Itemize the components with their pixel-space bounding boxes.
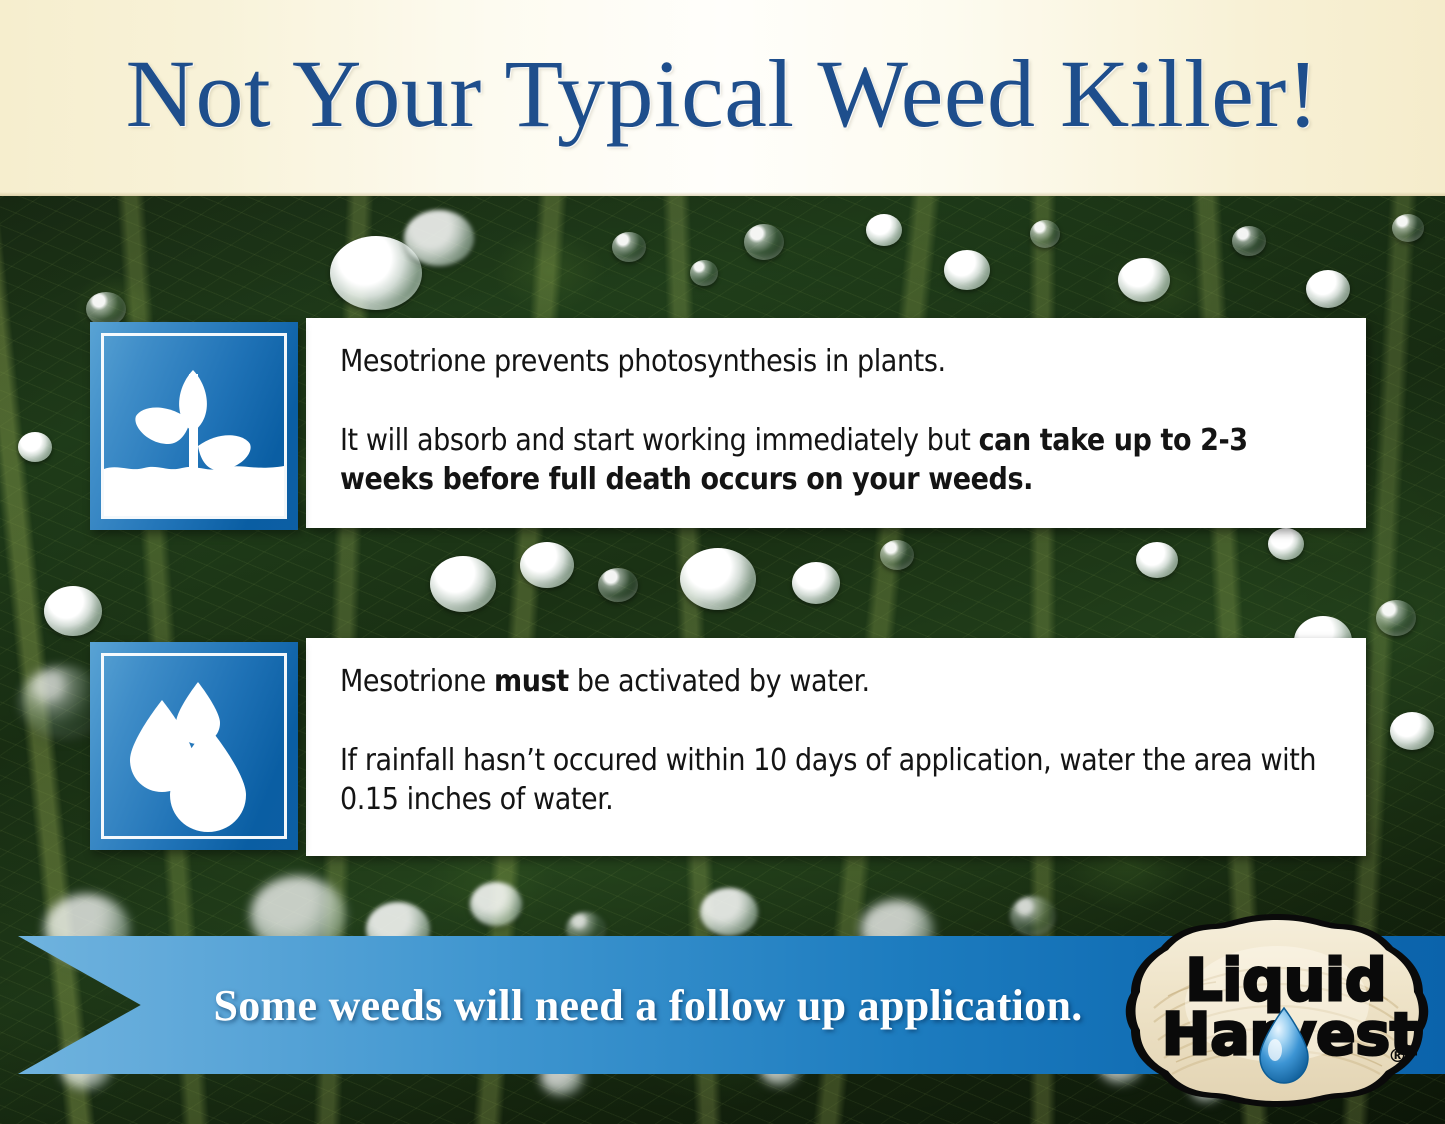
- fact-text-segment: It will absorb and start working immedia…: [340, 423, 979, 458]
- logo-droplet-highlight: [1268, 1039, 1282, 1061]
- fact-line: Mesotrione must be activated by water.: [340, 662, 1336, 701]
- water-droplet: [1306, 270, 1350, 308]
- water-droplet: [598, 568, 638, 602]
- fact-text-panel: Mesotrione prevents photosynthesis in pl…: [306, 318, 1366, 528]
- fact-text-segment: Mesotrione: [340, 664, 494, 699]
- seedling-icon-tile: [90, 322, 298, 530]
- water-droplet: [44, 586, 102, 636]
- fact-text-segment: Mesotrione prevents photosynthesis in pl…: [340, 344, 946, 379]
- water-droplets-icon: [104, 656, 284, 836]
- water-droplet: [866, 214, 902, 246]
- water-droplet: [1010, 896, 1056, 936]
- water-droplet: [680, 548, 756, 610]
- water-droplet: [430, 556, 496, 612]
- fact-line: If rainfall hasn’t occured within 10 day…: [340, 741, 1336, 819]
- seedling-icon: [104, 336, 284, 516]
- fact-text-segment: be activated by water.: [569, 664, 870, 699]
- liquid-harvest-logo: Liquid Har vest ®: [1124, 912, 1430, 1108]
- water-droplet: [792, 562, 840, 604]
- page-title: Not Your Typical Weed Killer!: [0, 0, 1445, 196]
- brand-logo: Liquid Har vest ®: [1124, 912, 1430, 1108]
- water-droplet: [404, 210, 474, 266]
- fact-line: It will absorb and start working immedia…: [340, 421, 1336, 499]
- water-droplet: [1136, 542, 1178, 578]
- water-droplet: [880, 540, 914, 570]
- fact-block-water-activation: Mesotrione must be activated by water. I…: [90, 638, 1366, 856]
- water-droplet: [944, 250, 990, 290]
- water-droplet: [700, 888, 758, 936]
- water-droplet: [1268, 528, 1304, 560]
- water-droplet: [1232, 226, 1266, 256]
- water-droplet: [1392, 214, 1424, 242]
- fact-block-photosynthesis: Mesotrione prevents photosynthesis in pl…: [90, 318, 1366, 530]
- water-droplet: [1118, 258, 1170, 302]
- water-droplets-icon-tile: [90, 642, 298, 850]
- water-droplet: [470, 882, 522, 926]
- logo-registered-mark: ®: [1388, 1045, 1407, 1067]
- water-droplet: [1030, 220, 1060, 248]
- fact-line: Mesotrione prevents photosynthesis in pl…: [340, 342, 1336, 381]
- water-droplet: [520, 542, 574, 588]
- water-droplet: [690, 260, 718, 286]
- header-band: Not Your Typical Weed Killer!: [0, 0, 1445, 196]
- water-droplet: [744, 224, 784, 260]
- callout-ribbon-text: Some weeds will need a follow up applica…: [18, 936, 1208, 1074]
- fact-text-segment: If rainfall hasn’t occured within 10 day…: [340, 743, 1316, 817]
- water-droplet: [612, 232, 646, 262]
- fact-text-panel: Mesotrione must be activated by water. I…: [306, 638, 1366, 856]
- water-droplet: [1390, 712, 1434, 750]
- fact-text-segment-bold: must: [494, 664, 569, 699]
- water-droplet: [1376, 600, 1416, 636]
- infographic-poster: Not Your Typical Weed Killer!: [0, 0, 1445, 1124]
- water-droplet: [18, 432, 52, 462]
